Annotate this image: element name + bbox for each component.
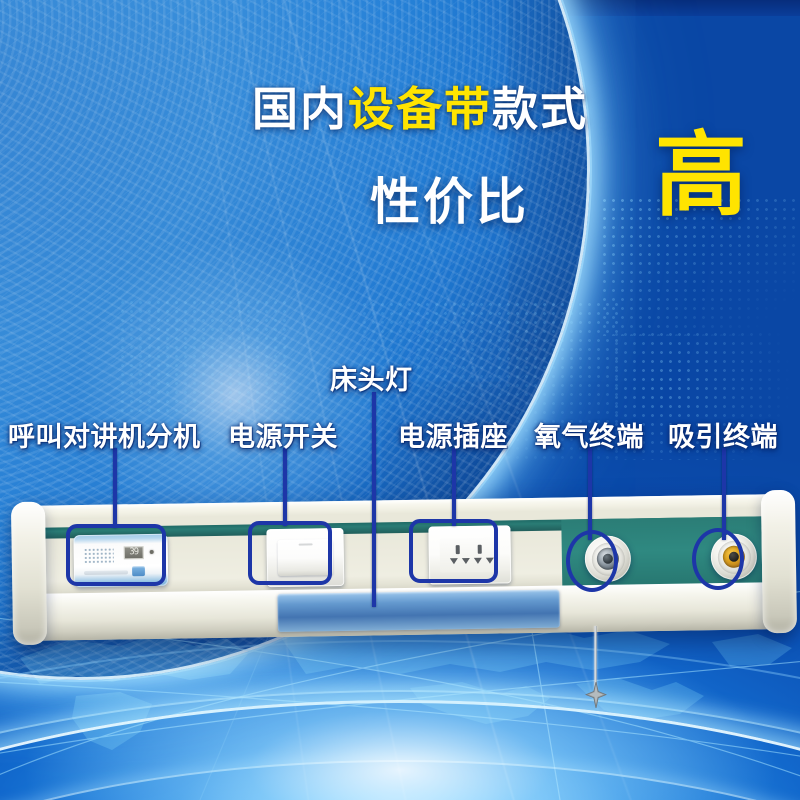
bed-head-unit-panel: 39 — [21, 494, 785, 641]
leader-line-bed-lamp — [372, 392, 376, 607]
oxygen-pin — [603, 554, 613, 564]
intercom-call-button[interactable] — [132, 566, 145, 576]
socket-flat-pin — [462, 558, 470, 564]
socket-faceplate — [440, 537, 501, 572]
pull-cord-handle-icon — [585, 682, 607, 708]
oxygen-outer-ring — [591, 542, 625, 576]
promo-banner: 国内设备带款式 性价比 高 呼叫对讲机分机 电源开关 床头灯 电源插座 氧气终端… — [0, 0, 800, 800]
leader-line-power-switch — [283, 448, 287, 526]
headline-part-3: 款式 — [492, 82, 588, 136]
headline-line-2: 性价比 — [370, 162, 529, 234]
headline-emphasis: 高 — [655, 130, 747, 222]
leader-line-oxygen — [588, 448, 592, 540]
callout-label-power-socket: 电源插座 — [398, 415, 508, 454]
rocker-paddle[interactable] — [278, 539, 334, 576]
halftone-dots — [118, 298, 288, 418]
intercom-label-slot — [84, 570, 128, 575]
panel-body: 39 — [21, 494, 785, 641]
callout-label-intercom: 呼叫对讲机分机 — [8, 415, 201, 454]
intercom-display: 39 — [124, 546, 144, 559]
socket-pin-hole — [456, 545, 460, 554]
power-socket-device[interactable] — [428, 525, 511, 584]
suction-core — [723, 546, 745, 568]
leader-line-power-socket — [452, 448, 456, 526]
suction-outer-ring — [717, 540, 751, 574]
socket-flat-pin — [450, 558, 458, 564]
callout-label-oxygen: 氧气终端 — [534, 415, 644, 454]
leader-line-suction — [722, 448, 726, 540]
panel-end-cap-left — [11, 502, 47, 646]
panel-slider-block[interactable] — [277, 590, 560, 632]
callout-label-suction: 吸引终端 — [668, 415, 778, 454]
power-switch-device[interactable] — [266, 528, 344, 587]
speaker-grille-icon — [84, 548, 114, 564]
status-led-icon — [150, 550, 154, 554]
socket-pin-hole — [478, 545, 482, 554]
leader-line-intercom — [113, 448, 117, 528]
panel-end-cap-right — [761, 490, 797, 634]
socket-flat-pin — [474, 558, 482, 564]
suction-pin — [729, 552, 739, 562]
callout-label-power-switch: 电源开关 — [228, 415, 338, 454]
socket-flat-pin — [486, 558, 494, 564]
intercom-device[interactable]: 39 — [73, 534, 168, 587]
headline-part-2: 设备带 — [348, 82, 492, 136]
headline-part-1: 国内 — [252, 82, 348, 136]
headline-block: 国内设备带款式 性价比 高 — [0, 86, 800, 132]
oxygen-core — [597, 548, 619, 570]
rocker-notch-icon — [298, 543, 312, 545]
callout-label-bed-lamp: 床头灯 — [330, 358, 413, 397]
